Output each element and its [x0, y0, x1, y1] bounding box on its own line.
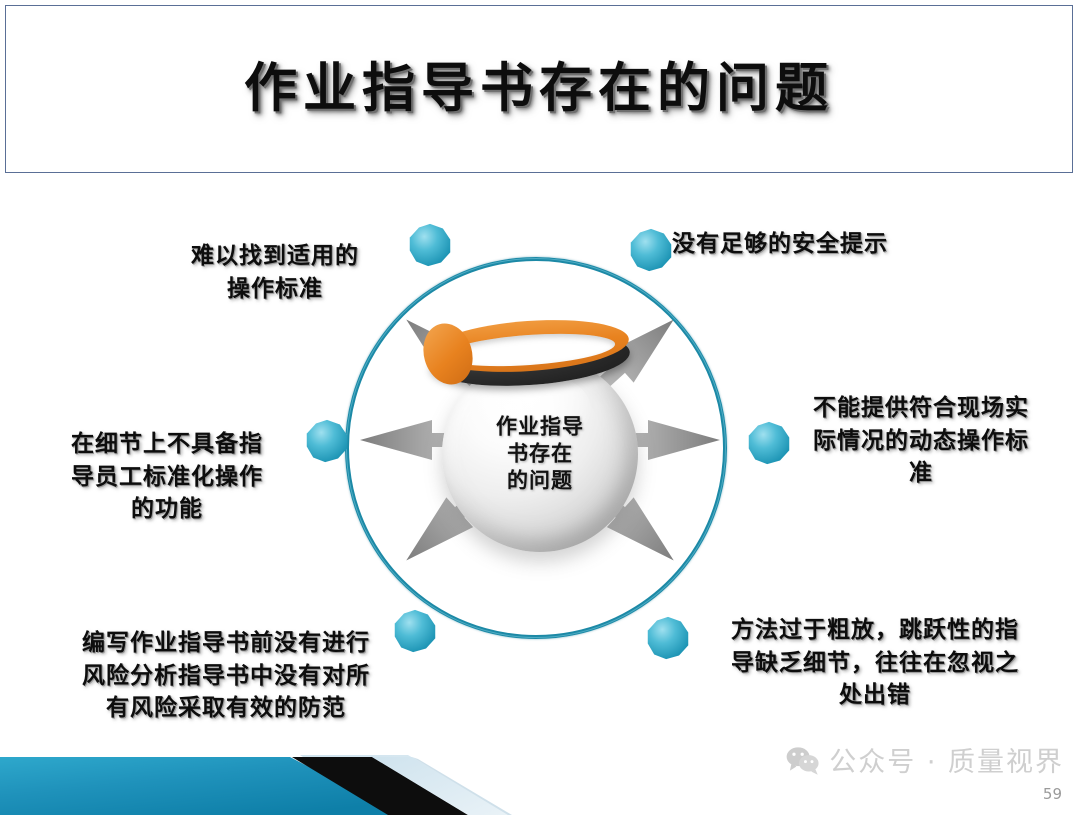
- callout-line: 没有足够的安全提示: [672, 228, 1022, 261]
- center-label-line-1: 作业指导: [442, 414, 638, 441]
- callout-line: 方法过于粗放，跳跃性的指: [690, 614, 1060, 647]
- center-label-line-3: 的问题: [442, 467, 638, 494]
- callout-bottom-right: 方法过于粗放，跳跃性的指 导缺乏细节，往往在忽视之 处出错: [690, 614, 1060, 712]
- callout-line: 处出错: [690, 679, 1060, 712]
- node-left: [304, 418, 350, 464]
- callout-line: 编写作业指导书前没有进行: [26, 627, 426, 660]
- callout-line: 不能提供符合现场实: [786, 392, 1056, 425]
- callout-line: 风险分析指导书中没有对所: [26, 660, 426, 693]
- page-title: 作业指导书存在的问题: [6, 46, 1072, 122]
- callout-line: 际情况的动态操作标: [786, 425, 1056, 458]
- callout-line: 准: [786, 457, 1056, 490]
- center-label: 作业指导 书存在 的问题: [442, 414, 638, 495]
- wechat-icon: [785, 745, 821, 775]
- node-right: [746, 420, 792, 466]
- callout-line: 难以找到适用的: [130, 240, 420, 273]
- watermark-text: 公众号 · 质量视界: [829, 740, 1064, 779]
- node-bottom-right: [645, 615, 691, 661]
- callout-top-right: 没有足够的安全提示: [672, 228, 1022, 261]
- node-top-left: [407, 222, 453, 268]
- callout-line: 的功能: [22, 493, 312, 526]
- node-bottom-left: [392, 608, 438, 654]
- center-sphere: 作业指导 书存在 的问题: [442, 356, 638, 552]
- callout-line: 有风险采取有效的防范: [26, 692, 426, 725]
- slide-canvas: 作业指导书存在的问题: [0, 0, 1080, 815]
- callout-top-left: 难以找到适用的 操作标准: [130, 240, 420, 305]
- node-top-right: [628, 227, 674, 273]
- callout-line: 导员工标准化操作: [22, 461, 312, 494]
- center-label-line-2: 书存在: [442, 441, 638, 468]
- page-number: 59: [1043, 785, 1062, 803]
- callout-right: 不能提供符合现场实 际情况的动态操作标 准: [786, 392, 1056, 490]
- callout-left: 在细节上不具备指 导员工标准化操作 的功能: [22, 428, 312, 526]
- title-frame: 作业指导书存在的问题: [5, 5, 1073, 173]
- callout-line: 导缺乏细节，往往在忽视之: [690, 647, 1060, 680]
- callout-line: 操作标准: [130, 273, 420, 306]
- bottom-decoration: [0, 735, 640, 815]
- callout-line: 在细节上不具备指: [22, 428, 312, 461]
- watermark: 公众号 · 质量视界: [785, 740, 1064, 779]
- callout-bottom-left: 编写作业指导书前没有进行 风险分析指导书中没有对所 有风险采取有效的防范: [26, 627, 426, 725]
